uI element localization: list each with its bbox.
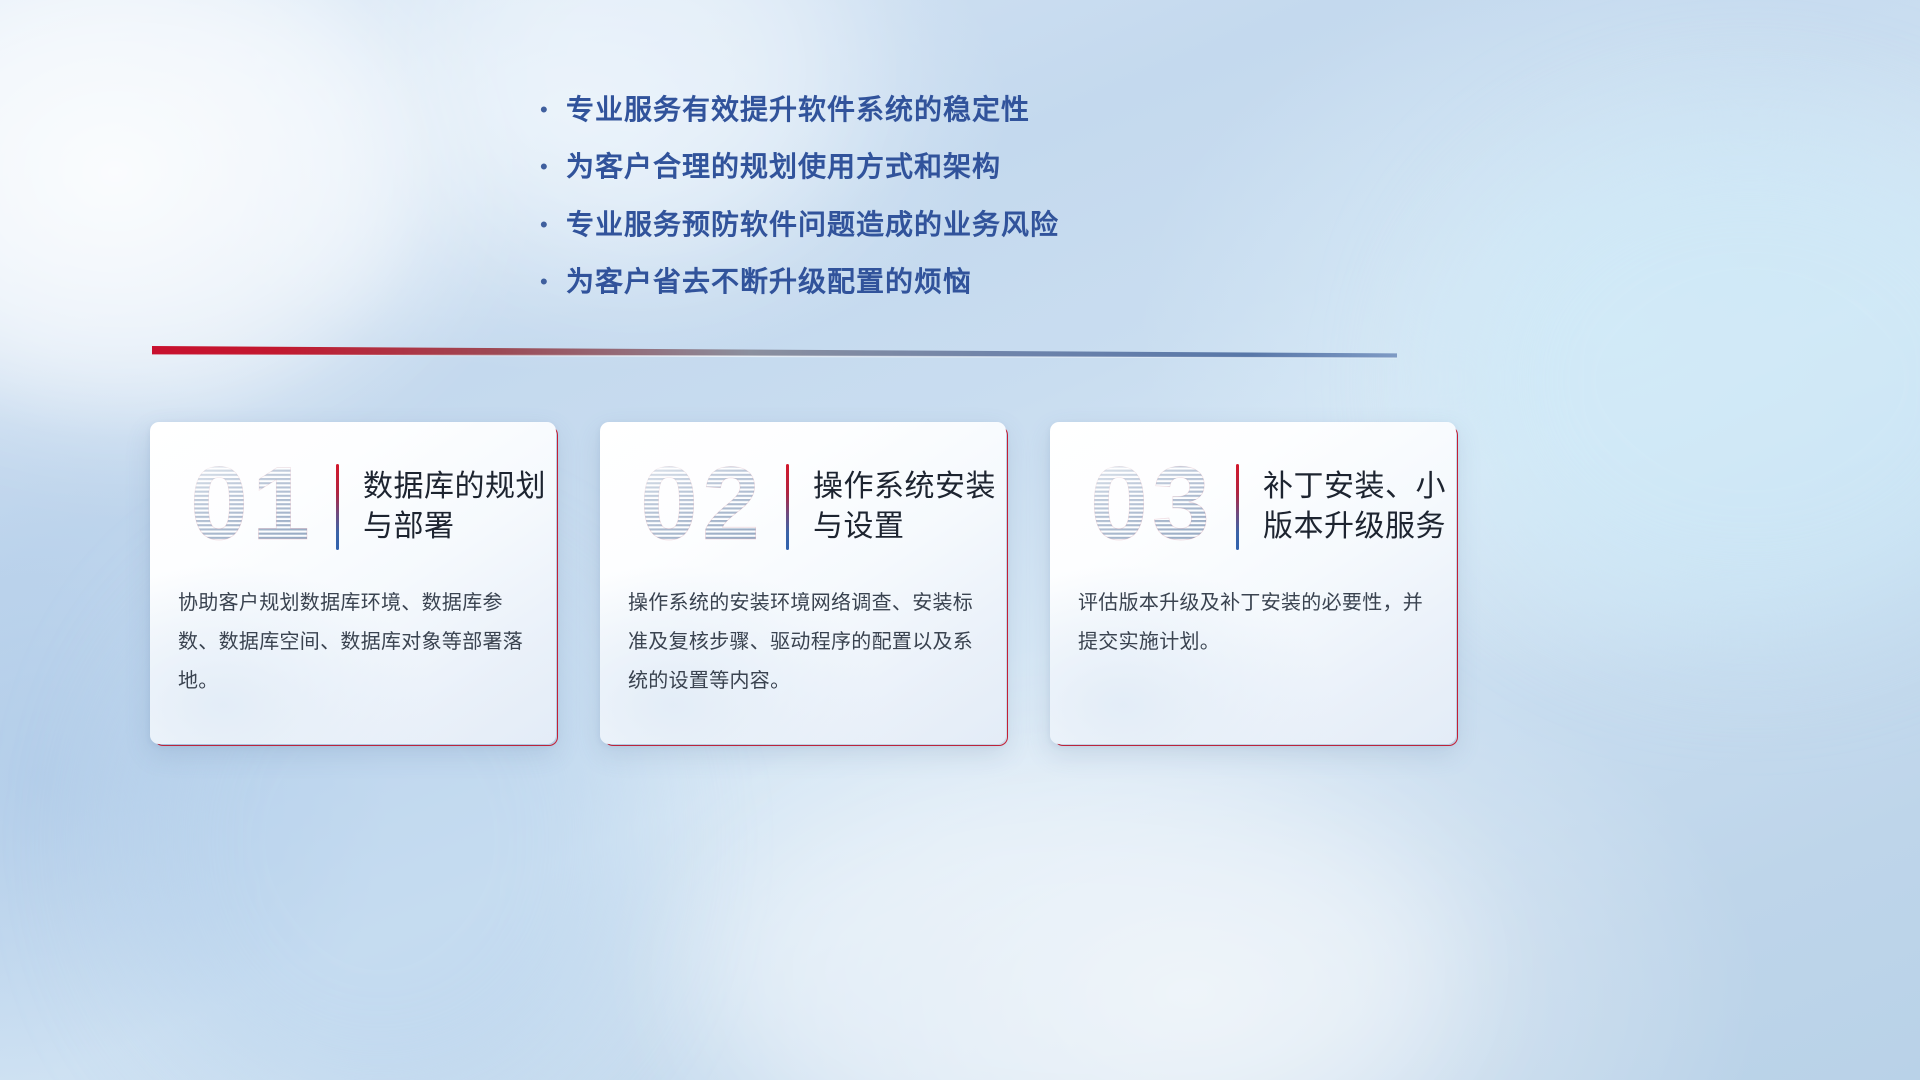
- bullet-item: • 专业服务有效提升软件系统的稳定性: [540, 88, 1360, 131]
- card-surface: 01 01 数据库的规划 与部署 协助客户规划数据库环境、数据库参数、数据库空间…: [150, 422, 556, 744]
- card-description: 协助客户规划数据库环境、数据库参数、数据库空间、数据库对象等部署落地。: [178, 584, 530, 701]
- card-surface: 02 02 操作系统安装 与设置 操作系统的安装环境网络调查、安装标准及复核步骤…: [600, 422, 1006, 744]
- bullet-item-label: 专业服务有效提升软件系统的稳定性: [566, 88, 1030, 131]
- svg-text:01: 01: [190, 457, 314, 557]
- svg-text:03: 03: [1090, 457, 1214, 557]
- card-number-watermark: 02 02: [618, 457, 786, 557]
- bullet-item: • 为客户合理的规划使用方式和架构: [540, 145, 1360, 188]
- service-card-list: 01 01 数据库的规划 与部署 协助客户规划数据库环境、数据库参数、数据库空间…: [150, 422, 1460, 744]
- bullet-item-label: 为客户合理的规划使用方式和架构: [566, 145, 1001, 188]
- card-header: 03 03 补丁安装、小 版本升级服务: [1050, 446, 1456, 568]
- card-title: 数据库的规划 与部署: [363, 467, 546, 547]
- section-divider: [152, 346, 1397, 360]
- background-glow-right: [1440, 120, 1920, 640]
- bullet-item: • 专业服务预防软件问题造成的业务风险: [540, 203, 1360, 246]
- bullet-item: • 为客户省去不断升级配置的烦恼: [540, 260, 1360, 303]
- card-title-rule: [786, 464, 789, 550]
- card-number-watermark: 03 03: [1068, 457, 1236, 557]
- service-card[interactable]: 03 03 补丁安装、小 版本升级服务 评估版本升级及补丁安装的必要性，并提交实…: [1050, 422, 1456, 744]
- slide-canvas: • 专业服务有效提升软件系统的稳定性 • 为客户合理的规划使用方式和架构 • 专…: [0, 0, 1920, 1080]
- card-title: 操作系统安装 与设置: [813, 467, 996, 547]
- benefits-bullet-list: • 专业服务有效提升软件系统的稳定性 • 为客户合理的规划使用方式和架构 • 专…: [540, 88, 1360, 318]
- card-title-rule: [1236, 464, 1239, 550]
- service-card[interactable]: 02 02 操作系统安装 与设置 操作系统的安装环境网络调查、安装标准及复核步骤…: [600, 422, 1006, 744]
- bullet-marker-icon: •: [540, 214, 566, 236]
- card-surface: 03 03 补丁安装、小 版本升级服务 评估版本升级及补丁安装的必要性，并提交实…: [1050, 422, 1456, 744]
- bullet-marker-icon: •: [540, 99, 566, 121]
- card-header: 01 01 数据库的规划 与部署: [150, 446, 556, 568]
- card-header: 02 02 操作系统安装 与设置: [600, 446, 1006, 568]
- svg-text:02: 02: [640, 457, 764, 557]
- bullet-item-label: 专业服务预防软件问题造成的业务风险: [566, 203, 1059, 246]
- card-description: 评估版本升级及补丁安装的必要性，并提交实施计划。: [1078, 584, 1430, 662]
- background-glow-bottom-center: [700, 760, 1460, 1080]
- bullet-marker-icon: •: [540, 271, 566, 293]
- card-title: 补丁安装、小 版本升级服务: [1263, 467, 1446, 547]
- bullet-item-label: 为客户省去不断升级配置的烦恼: [566, 260, 972, 303]
- bullet-marker-icon: •: [540, 156, 566, 178]
- service-card[interactable]: 01 01 数据库的规划 与部署 协助客户规划数据库环境、数据库参数、数据库空间…: [150, 422, 556, 744]
- card-title-rule: [336, 464, 339, 550]
- card-number-watermark: 01 01: [168, 457, 336, 557]
- background-glow-top-left: [0, 0, 440, 410]
- card-description: 操作系统的安装环境网络调查、安装标准及复核步骤、驱动程序的配置以及系统的设置等内…: [628, 584, 980, 701]
